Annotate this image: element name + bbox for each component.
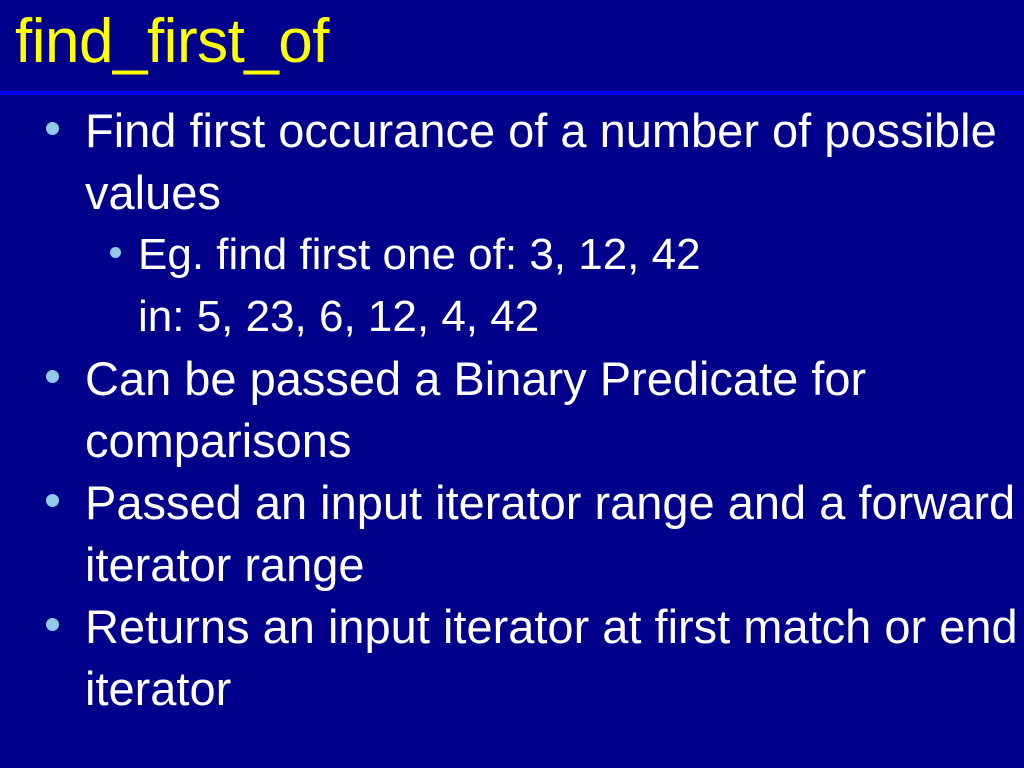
list-item-label: Find first occurance of a number of poss… <box>85 100 1024 224</box>
list-item: Passed an input iterator range and a for… <box>0 472 1024 596</box>
slide-body-content: Find first occurance of a number of poss… <box>0 100 1024 768</box>
list-item: Returns an input iterator at first match… <box>0 596 1024 720</box>
list-item-label: Can be passed a Binary Predicate for com… <box>85 348 1024 472</box>
bullet-point-icon <box>110 247 121 258</box>
page-title: find_first_of <box>15 2 329 82</box>
bullet-point-icon <box>46 618 59 631</box>
list-item-label: Returns an input iterator at first match… <box>85 596 1024 720</box>
bullet-point-icon <box>46 370 59 383</box>
list-item: Eg. find first one of: 3, 12, 42 in: 5, … <box>0 224 1024 348</box>
list-item: Find first occurance of a number of poss… <box>0 100 1024 224</box>
list-item: Can be passed a Binary Predicate for com… <box>0 348 1024 472</box>
presentation-slide: find_first_of Find first occurance of a … <box>0 0 1024 768</box>
list-item-label: Passed an input iterator range and a for… <box>85 472 1024 596</box>
list-item-label: Eg. find first one of: 3, 12, 42 in: 5, … <box>138 224 1024 348</box>
bullet-point-icon <box>46 122 59 135</box>
title-divider-rule <box>0 91 1024 95</box>
bullet-point-icon <box>46 494 59 507</box>
slide-title-area: find_first_of <box>0 0 1024 92</box>
